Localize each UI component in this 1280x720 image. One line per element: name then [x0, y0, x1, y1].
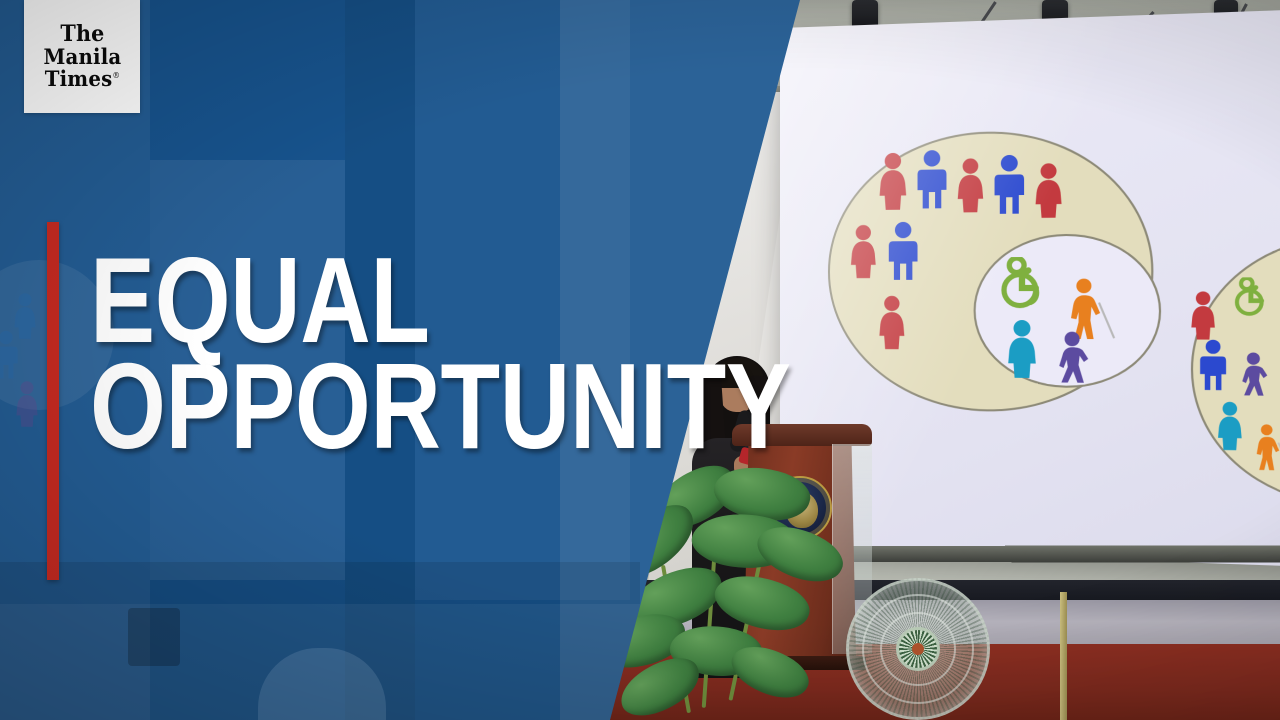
diagram-inclusive-group: [780, 94, 1280, 468]
figure-man-blue: [1198, 339, 1229, 392]
stand-fan-icon: [846, 578, 990, 720]
logo-line-the: The: [43, 23, 121, 46]
figure-wheelchair-user-green: [1231, 277, 1276, 318]
figure-woman-teal: [1215, 400, 1244, 451]
bamboo-pole: [1060, 592, 1067, 720]
figure-woman-red: [1189, 290, 1218, 341]
registered-trademark-symbol: ®: [112, 71, 120, 80]
logo-line-manila: Manila: [43, 46, 121, 68]
video-thumbnail: The Manila Times® EQUAL OPPORTUNITY: [0, 0, 1280, 720]
logo-line-times: Times®: [43, 68, 121, 90]
headline-line-2: OPPORTUNITY: [90, 358, 570, 456]
figure-person-walking-purple: [1238, 352, 1269, 399]
overlay-stage-monitor: [128, 608, 180, 666]
overlay-figure-man: [0, 330, 20, 380]
manila-times-logo[interactable]: The Manila Times®: [24, 0, 140, 113]
figure-person-with-cane-orange: [1253, 422, 1280, 474]
headline: EQUAL OPPORTUNITY: [90, 252, 690, 455]
overlay-figure-woman: [14, 380, 40, 428]
headline-line-1: EQUAL: [90, 252, 570, 350]
fan-hub: [896, 627, 940, 671]
red-accent-bar: [47, 222, 59, 580]
logo-wordmark: The Manila Times®: [43, 23, 121, 91]
